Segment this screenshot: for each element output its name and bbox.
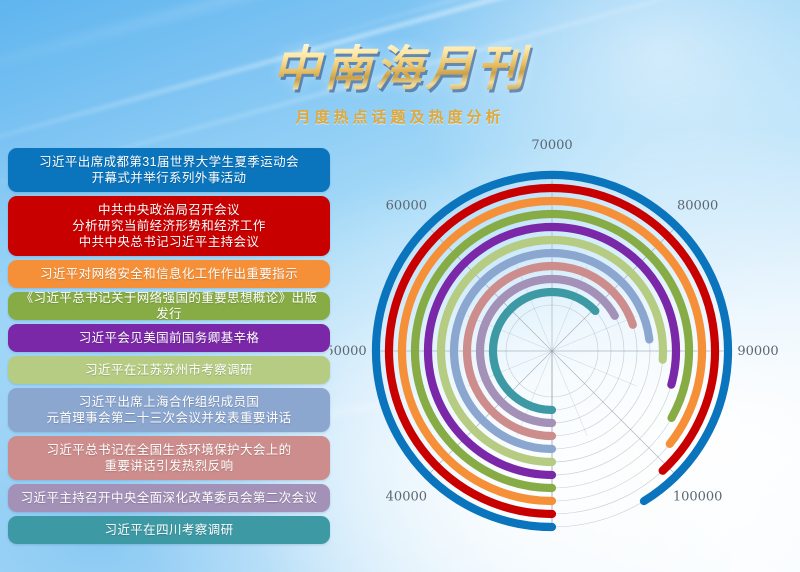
legend-item-label: 习近平在江苏苏州市考察调研 xyxy=(85,362,253,378)
legend-item-label: 习近平在四川考察调研 xyxy=(104,522,233,538)
legend-item-label: 《习近平总书记关于网络强国的重要思想概论》出版发行 xyxy=(18,290,320,322)
axis-tick-label: 80000 xyxy=(677,198,718,213)
legend-item-label: 习近平对网络安全和信息化工作作出重要指示 xyxy=(40,266,298,282)
axis-tick-label: 90000 xyxy=(737,344,778,359)
page-title: 中南海月刊 xyxy=(266,44,533,94)
legend-item[interactable]: 习近平总书记在全国生态环境保护大会上的 重要讲话引发热烈反响 xyxy=(8,436,330,480)
poster-header: 中南海月刊 月度热点话题及热度分析 xyxy=(0,44,800,127)
legend-item[interactable]: 习近平出席成都第31届世界大学生夏季运动会 开幕式并举行系列外事活动 xyxy=(8,148,330,192)
legend-item[interactable]: 习近平对网络安全和信息化工作作出重要指示 xyxy=(8,260,330,288)
radial-bar-chart: 400005000060000700008000090000100000 xyxy=(330,130,800,540)
legend-item[interactable]: 习近平在四川考察调研 xyxy=(8,516,330,544)
legend-item-label: 习近平主持召开中央全面深化改革委员会第二次会议 xyxy=(21,490,318,506)
legend-list: 习近平出席成都第31届世界大学生夏季运动会 开幕式并举行系列外事活动中共中央政治… xyxy=(8,148,330,548)
legend-item[interactable]: 习近平在江苏苏州市考察调研 xyxy=(8,356,330,384)
legend-item-label: 习近平总书记在全国生态环境保护大会上的 重要讲话引发热烈反响 xyxy=(46,442,291,474)
legend-item-label: 中共中央政治局召开会议 分析研究当前经济形势和经济工作 中共中央总书记习近平主持… xyxy=(72,202,266,250)
legend-item-label: 习近平出席成都第31届世界大学生夏季运动会 开幕式并举行系列外事活动 xyxy=(39,154,299,186)
radial-chart-svg: 400005000060000700008000090000100000 xyxy=(330,130,800,540)
page-subtitle: 月度热点话题及热度分析 xyxy=(0,106,800,127)
axis-tick-label: 60000 xyxy=(386,198,427,213)
axis-tick-label: 40000 xyxy=(386,490,427,505)
legend-item[interactable]: 中共中央政治局召开会议 分析研究当前经济形势和经济工作 中共中央总书记习近平主持… xyxy=(8,196,330,256)
poster-root: 中南海月刊 月度热点话题及热度分析 习近平出席成都第31届世界大学生夏季运动会 … xyxy=(0,0,800,572)
legend-item-label: 习近平会见美国前国务卿基辛格 xyxy=(79,330,260,346)
axis-tick-label: 100000 xyxy=(673,490,723,505)
axis-tick-label: 70000 xyxy=(531,138,572,153)
legend-item[interactable]: 习近平出席上海合作组织成员国 元首理事会第二十三次会议并发表重要讲话 xyxy=(8,388,330,432)
legend-item-label: 习近平出席上海合作组织成员国 元首理事会第二十三次会议并发表重要讲话 xyxy=(46,394,291,426)
legend-item[interactable]: 习近平会见美国前国务卿基辛格 xyxy=(8,324,330,352)
legend-item[interactable]: 《习近平总书记关于网络强国的重要思想概论》出版发行 xyxy=(8,292,330,320)
legend-item[interactable]: 习近平主持召开中央全面深化改革委员会第二次会议 xyxy=(8,484,330,512)
axis-tick-label: 50000 xyxy=(330,344,367,359)
